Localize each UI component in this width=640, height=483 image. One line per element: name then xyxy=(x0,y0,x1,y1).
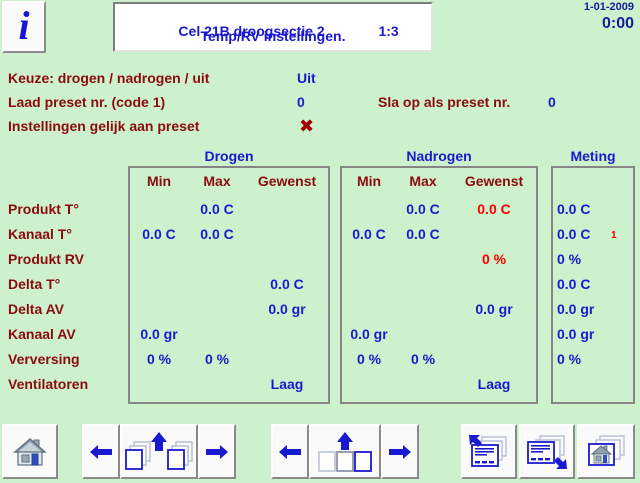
cell-drogen-gewenst-5[interactable]: 0.0 gr xyxy=(246,301,328,317)
next-screen-button[interactable] xyxy=(519,424,575,479)
cell-nadrogen-max-1[interactable]: 0.0 C xyxy=(394,201,452,217)
next-section-button[interactable] xyxy=(381,424,419,479)
setting-row-mode: Keuze: drogen / nadrogen / uit Uit xyxy=(0,70,640,94)
row-label-7: Verversing xyxy=(8,351,80,367)
cell-drogen-gewenst-4[interactable]: 0.0 C xyxy=(246,276,328,292)
cross-icon[interactable]: ✖ xyxy=(299,116,314,138)
colhead-nadrogen-max: Max xyxy=(394,173,452,189)
cell-meting-value-2: 0.0 C xyxy=(551,226,619,242)
prev-section-button[interactable] xyxy=(271,424,309,479)
left-arrow-icon xyxy=(89,442,113,462)
clock-date: 1-01-2009 xyxy=(584,1,634,14)
colhead-drogen-min: Min xyxy=(128,173,190,189)
group-title-drogen: Drogen xyxy=(128,148,330,164)
save-preset-value[interactable]: 0 xyxy=(548,94,556,110)
save-preset-label: Sla op als preset nr. xyxy=(378,94,510,110)
screens-arrow-out-icon xyxy=(526,433,568,471)
cell-meting-value-7: 0 % xyxy=(551,351,619,367)
screens-arrow-in-icon xyxy=(468,433,510,471)
cell-drogen-max-7[interactable]: 0 % xyxy=(186,351,248,367)
cell-meting-value-5: 0.0 gr xyxy=(551,301,619,317)
cell-meting-value-1: 0.0 C xyxy=(551,201,619,217)
cell-nadrogen-min-7[interactable]: 0 % xyxy=(340,351,398,367)
bottom-toolbar xyxy=(0,424,640,483)
page-group-1-indicator[interactable] xyxy=(120,424,198,479)
group-title-meting: Meting xyxy=(551,148,635,164)
cell-meting-value-4: 0.0 C xyxy=(551,276,619,292)
row-label-5: Delta AV xyxy=(8,301,64,317)
info-button[interactable]: i xyxy=(2,1,46,53)
cell-drogen-min-7[interactable]: 0 % xyxy=(128,351,190,367)
cell-drogen-max-2[interactable]: 0.0 C xyxy=(186,226,248,242)
previous-screen-button[interactable] xyxy=(461,424,517,479)
cell-nadrogen-max-2[interactable]: 0.0 C xyxy=(394,226,452,242)
screens-house-icon xyxy=(584,433,628,471)
group-title-nadrogen: Nadrogen xyxy=(340,148,538,164)
cell-nadrogen-gewenst-3[interactable]: 0 % xyxy=(452,251,536,267)
clock: 1-01-2009 0:00 xyxy=(584,1,634,33)
prev-page-button[interactable] xyxy=(82,424,120,479)
cell-meting-value-3: 0 % xyxy=(551,251,619,267)
cell-nadrogen-min-2[interactable]: 0.0 C xyxy=(340,226,398,242)
right-arrow-icon xyxy=(205,442,229,462)
title-display: Cel 21B droogsectie 21:3 Temp/RV instell… xyxy=(113,2,433,52)
cell-nadrogen-gewenst-8[interactable]: Laag xyxy=(452,376,536,392)
row-label-8: Ventilatoren xyxy=(8,376,88,392)
colhead-drogen-max: Max xyxy=(186,173,248,189)
cell-nadrogen-max-7[interactable]: 0 % xyxy=(394,351,452,367)
row-label-1: Produkt T° xyxy=(8,201,79,217)
cell-drogen-min-6[interactable]: 0.0 gr xyxy=(128,326,190,342)
home-screens-button[interactable] xyxy=(577,424,635,479)
cell-meting-value-6: 0.0 gr xyxy=(551,326,619,342)
settings-section: Keuze: drogen / nadrogen / uit Uit Laad … xyxy=(0,70,640,142)
left-arrow-icon xyxy=(278,442,302,462)
cell-nadrogen-min-6[interactable]: 0.0 gr xyxy=(340,326,398,342)
colhead-drogen-gewenst: Gewenst xyxy=(246,173,328,189)
load-preset-value[interactable]: 0 xyxy=(297,94,305,110)
setting-row-equal-preset: Instellingen gelijk aan preset ✖ xyxy=(0,118,640,142)
cell-nadrogen-gewenst-5[interactable]: 0.0 gr xyxy=(452,301,536,317)
info-icon: i xyxy=(18,6,29,46)
right-arrow-icon xyxy=(388,442,412,462)
setting-row-load-preset: Laad preset nr. (code 1) 0 Sla op als pr… xyxy=(0,94,640,118)
cell-drogen-gewenst-8[interactable]: Laag xyxy=(246,376,328,392)
colhead-nadrogen-min: Min xyxy=(340,173,398,189)
title-line-2: Temp/RV instellingen. xyxy=(115,28,431,44)
load-preset-label: Laad preset nr. (code 1) xyxy=(8,94,165,110)
clock-time: 0:00 xyxy=(584,15,634,33)
header-bar: i Cel 21B droogsectie 21:3 Temp/RV inste… xyxy=(0,0,640,56)
colhead-nadrogen-gewenst: Gewenst xyxy=(452,173,536,189)
next-page-button[interactable] xyxy=(198,424,236,479)
row-label-3: Produkt RV xyxy=(8,251,84,267)
pages-up-icon xyxy=(124,431,194,473)
house-icon xyxy=(13,436,47,468)
sensor-index-marker-2: 1 xyxy=(611,230,617,242)
home-button[interactable] xyxy=(2,424,58,479)
cell-nadrogen-gewenst-1[interactable]: 0.0 C xyxy=(452,201,536,217)
cell-drogen-min-2[interactable]: 0.0 C xyxy=(128,226,190,242)
mode-label: Keuze: drogen / nadrogen / uit xyxy=(8,70,209,86)
row-label-4: Delta T° xyxy=(8,276,60,292)
pages-stack-up-icon xyxy=(313,431,377,473)
row-label-6: Kanaal AV xyxy=(8,326,76,342)
equal-preset-label: Instellingen gelijk aan preset xyxy=(8,118,199,134)
row-label-2: Kanaal T° xyxy=(8,226,72,242)
cell-drogen-max-1[interactable]: 0.0 C xyxy=(186,201,248,217)
application-window: i Cel 21B droogsectie 21:3 Temp/RV inste… xyxy=(0,0,640,483)
section-group-indicator[interactable] xyxy=(309,424,381,479)
mode-value[interactable]: Uit xyxy=(297,70,316,86)
